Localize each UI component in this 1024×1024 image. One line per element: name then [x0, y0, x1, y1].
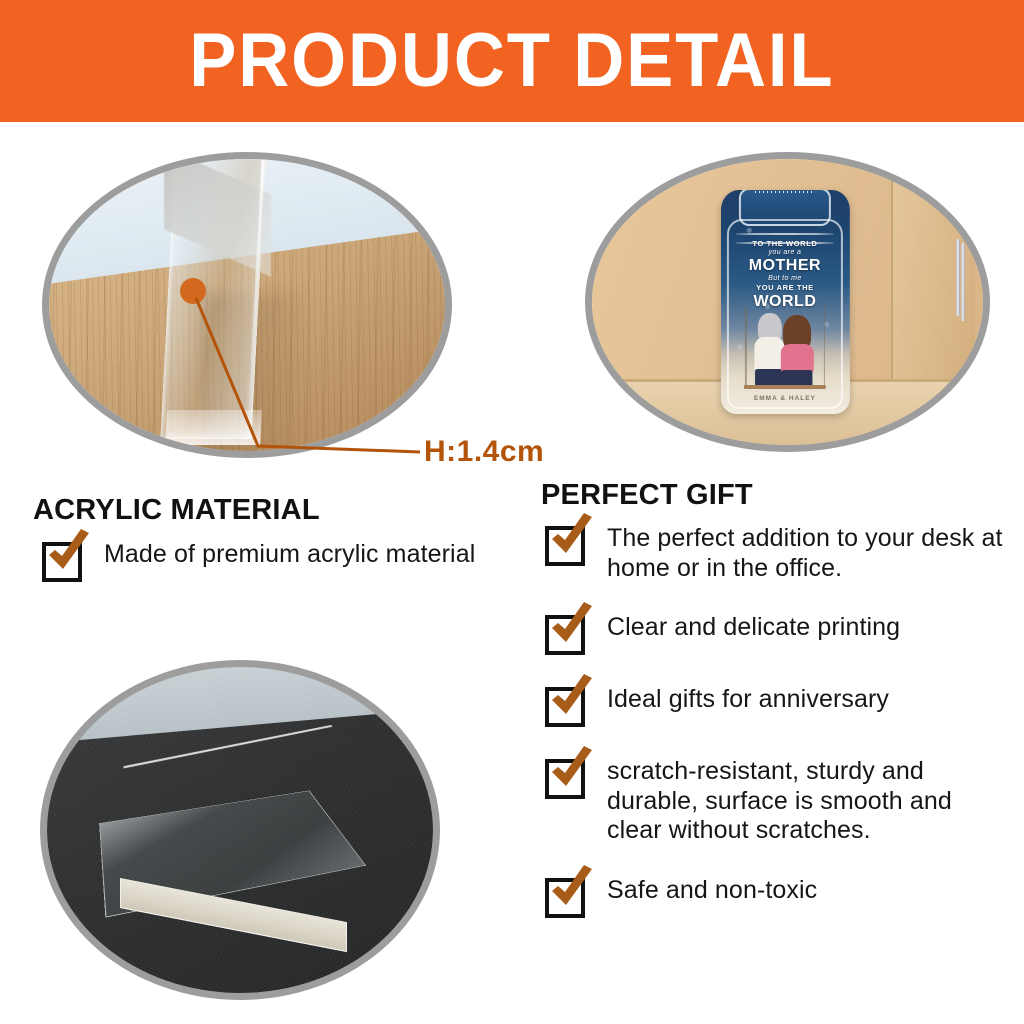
jar-plaque: TO THE WORLD you are a MOTHER But to me … — [720, 190, 849, 413]
checkbox-checked-icon — [42, 542, 82, 582]
feature-text: scratch-resistant, sturdy and durable, s… — [607, 757, 1005, 846]
checkbox-checked-icon — [545, 687, 585, 727]
section-title-acrylic-material: ACRYLIC MATERIAL — [33, 494, 320, 527]
acrylic-base — [165, 410, 262, 445]
checkmark-icon — [546, 865, 598, 917]
jar-quote-line-5: YOU ARE THE — [728, 284, 842, 292]
feature-item: Clear and delicate printing — [545, 613, 1005, 655]
checkmark-icon — [546, 674, 598, 726]
product-photo-jar-plaque: TO THE WORLD you are a MOTHER But to me … — [585, 152, 990, 452]
photo-cabinet — [891, 159, 975, 394]
product-photo-acrylic-edge — [42, 152, 452, 458]
jar-quote-line-2: you are a — [728, 249, 842, 257]
checkbox-checked-icon — [545, 759, 585, 799]
page-title: PRODUCT DETAIL — [189, 23, 834, 99]
feature-item: Safe and non-toxic — [545, 876, 1005, 918]
feature-text: The perfect addition to your desk at hom… — [607, 524, 1005, 583]
jar-lid-ribs — [755, 191, 815, 193]
jar-personalized-names: EMMA & HALEY — [728, 395, 842, 402]
jar-body: TO THE WORLD you are a MOTHER But to me … — [720, 190, 849, 413]
swing-rope — [823, 306, 825, 386]
acrylic-block — [109, 732, 379, 934]
checkbox-checked-icon — [545, 526, 585, 566]
feature-text: Clear and delicate printing — [607, 613, 900, 643]
photo-content-edge — [49, 159, 445, 451]
feature-list-acrylic-material: Made of premium acrylic material — [42, 540, 512, 608]
feature-item: scratch-resistant, sturdy and durable, s… — [545, 757, 1005, 846]
feature-text: Safe and non-toxic — [607, 876, 817, 906]
figure-daughter — [781, 315, 813, 386]
checkmark-icon — [546, 513, 598, 565]
header-banner: PRODUCT DETAIL — [0, 0, 1024, 122]
product-photo-acrylic-block — [40, 660, 440, 1000]
feature-item: Ideal gifts for anniversary — [545, 685, 1005, 727]
jar-quote-line-1: TO THE WORLD — [728, 240, 842, 248]
figure-bottom — [755, 369, 785, 387]
checkbox-checked-icon — [545, 615, 585, 655]
feature-item: The perfect addition to your desk at hom… — [545, 524, 1005, 583]
jar-quote: TO THE WORLD you are a MOTHER But to me … — [728, 240, 842, 312]
swing-plank — [744, 385, 827, 389]
feature-text: Ideal gifts for anniversary — [607, 685, 889, 715]
dimension-label: H:1.4cm — [424, 435, 544, 469]
figure-bottom — [782, 370, 813, 387]
jar-quote-line-3: MOTHER — [728, 257, 842, 274]
cabinet-handle-icon — [956, 239, 960, 316]
acrylic-block-highlight — [123, 725, 332, 769]
feature-item: Made of premium acrylic material — [42, 540, 512, 582]
photo-content-block — [47, 667, 433, 993]
section-title-perfect-gift: PERFECT GIFT — [541, 479, 753, 512]
checkmark-icon — [546, 602, 598, 654]
checkmark-icon — [546, 746, 598, 798]
feature-list-perfect-gift: The perfect addition to your desk at hom… — [545, 524, 1005, 948]
swing-rope — [745, 306, 747, 386]
checkbox-checked-icon — [545, 878, 585, 918]
cabinet-handle-icon — [961, 243, 965, 320]
jar-quote-line-4: But to me — [728, 275, 842, 283]
photo-content-plaque: TO THE WORLD you are a MOTHER But to me … — [592, 159, 983, 445]
checkmark-icon — [43, 529, 95, 581]
feature-text: Made of premium acrylic material — [104, 540, 475, 570]
